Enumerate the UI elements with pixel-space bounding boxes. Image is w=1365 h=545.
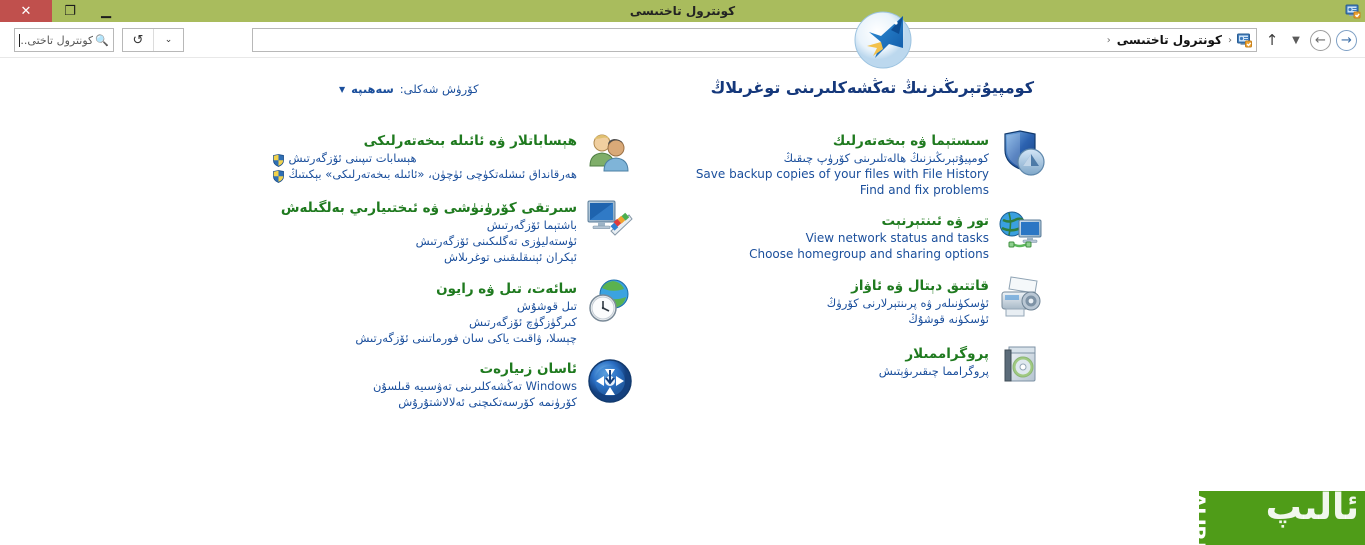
users-icon [585, 128, 635, 178]
control-panel-icon [1236, 32, 1253, 48]
control-panel-content: كومپيۇتېرىڭىزنىڭ تەڭشەكلىرىنى توغرىلاڭ ك… [0, 58, 1365, 487]
link-row-family-safety[interactable]: ھەرقانداق ئىشلەتكۈچى ئۈچۈن، «ئائىلە بىخە… [272, 166, 578, 182]
uac-shield-icon [272, 168, 285, 181]
chevron-down-icon: ▼ [339, 85, 345, 94]
category-title-appearance[interactable]: سىرتقى كۆرۈنۈشى ۋە ئىختىيارىي بەلگىلەش [281, 200, 577, 216]
link-change-desktop-background[interactable]: ئۈستەليۈزى تەگلىكىنى ئۆزگەرتىش [281, 233, 577, 249]
category-programs[interactable]: پروگراممىلار پروگرامما چىقىرىۋېتىش [879, 341, 1047, 391]
category-body: سىستېما ۋە بىخەتەرلىك كومپيۇتېرىڭىزنىڭ ھ… [696, 128, 989, 198]
link-add-a-device[interactable]: ئۈسكۈنە قوشۇڭ [827, 311, 989, 327]
category-title-ease-of-access[interactable]: ئاسان زىيارەت [480, 361, 577, 377]
page-title: كومپيۇتېرىڭىزنىڭ تەڭشەكلىرىنى توغرىلاڭ [711, 78, 1034, 97]
link-set-up-family-safety[interactable]: ھەرقانداق ئىشلەتكۈچى ئۈچۈن، «ئائىلە بىخە… [289, 166, 578, 182]
link-change-input-methods[interactable]: كىرگۈزگۈچ ئۆزگەرتىش [355, 314, 577, 330]
link-change-account-type[interactable]: ھېسابات تىپىنى ئۆزگەرتىش [289, 150, 417, 166]
printer-icon [997, 273, 1047, 323]
category-network-and-internet[interactable]: تور ۋە ئىنتېرنېت View network status and… [749, 208, 1047, 262]
uac-shield-icon [272, 152, 285, 165]
category-body: قاتتىق دېتال ۋە ئاۋاز ئۈسكۈنىلەر ۋە پرىن… [827, 273, 989, 327]
minimize-button[interactable]: ▁ [88, 0, 124, 22]
view-by-label: كۆرۈش شەكلى: [400, 82, 479, 96]
link-save-backup-copies[interactable]: Save backup copies of your files with Fi… [696, 166, 989, 182]
link-row-change-account-type[interactable]: ھېسابات تىپىنى ئۆزگەرتىش [272, 150, 578, 166]
back-button[interactable]: ← [1310, 30, 1331, 51]
view-by-value: سەھىپە [351, 82, 394, 96]
category-title-hardware-and-sound[interactable]: قاتتىق دېتال ۋە ئاۋاز [851, 278, 989, 294]
category-appearance-and-personalization[interactable]: سىرتقى كۆرۈنۈشى ۋە ئىختىيارىي بەلگىلەش ب… [281, 195, 635, 265]
category-clock-language-region[interactable]: سائەت، تىل ۋە رايون تىل قوشۇش كىرگۈزگۈچ … [355, 276, 635, 346]
search-input-value: كونترول تاختى... [19, 34, 93, 47]
refresh-group: ↺ ⌄ [122, 28, 184, 52]
category-body: پروگراممىلار پروگرامما چىقىرىۋېتىش [879, 341, 989, 379]
breadcrumb-separator[interactable]: ‹ [1227, 35, 1233, 46]
view-by-dropdown[interactable]: كۆرۈش شەكلى: سەھىپە ▼ [339, 82, 479, 96]
category-title-programs[interactable]: پروگراممىلار [905, 346, 989, 362]
watermark-subtext: ALIP.BIZ [1199, 493, 1209, 545]
programs-icon [997, 341, 1047, 391]
display-icon [585, 195, 635, 245]
network-icon [997, 208, 1047, 258]
chevron-down-icon[interactable]: ⌄ [154, 35, 183, 45]
address-bar[interactable]: ‹ كونترول تاختىسى ‹ [252, 28, 1257, 52]
refresh-icon[interactable]: ↺ [123, 33, 153, 48]
recent-locations-button[interactable]: ▼ [1289, 34, 1303, 48]
category-body: ئاسان زىيارەت Windows تەڭشەكلىرىنى تەۋسى… [373, 356, 577, 410]
watermark: ئالىپ ALIP.BIZ [1199, 491, 1365, 545]
link-add-a-language[interactable]: تىل قوشۇش [355, 298, 577, 314]
category-title-system-and-security[interactable]: سىستېما ۋە بىخەتەرلىك [833, 133, 989, 149]
category-body: سىرتقى كۆرۈنۈشى ۋە ئىختىيارىي بەلگىلەش ب… [281, 195, 577, 265]
category-ease-of-access[interactable]: ئاسان زىيارەت Windows تەڭشەكلىرىنى تەۋسى… [373, 356, 635, 410]
category-hardware-and-sound[interactable]: قاتتىق دېتال ۋە ئاۋاز ئۈسكۈنىلەر ۋە پرىن… [827, 273, 1047, 327]
link-change-date-time-number-formats[interactable]: چېسلا، ۋاقىت ياكى سان فورماتىنى ئۆزگەرتى… [355, 330, 577, 346]
shield-icon [997, 128, 1047, 178]
restore-button[interactable]: ❐ [52, 0, 88, 22]
breadcrumb-separator-end[interactable]: ‹ [1106, 35, 1112, 46]
breadcrumb-control-panel[interactable]: كونترول تاختىسى [1112, 33, 1227, 47]
up-button[interactable]: ↑ [1263, 31, 1281, 49]
control-panel-icon [1345, 3, 1361, 19]
window-title: كونترول تاختىسى [0, 0, 1365, 22]
category-system-and-security[interactable]: سىستېما ۋە بىخەتەرلىك كومپيۇتېرىڭىزنىڭ ھ… [696, 128, 1047, 198]
category-user-accounts-family-safety[interactable]: ھېساباتلار ۋە ئائىلە بىخەتەرلىكى ھېسابات… [272, 128, 636, 182]
category-title-user-accounts[interactable]: ھېساباتلار ۋە ئائىلە بىخەتەرلىكى [364, 133, 577, 149]
hummingbird-logo-icon [851, 8, 915, 70]
link-choose-homegroup[interactable]: Choose homegroup and sharing options [749, 246, 989, 262]
link-uninstall-a-program[interactable]: پروگرامما چىقىرىۋېتىش [879, 363, 989, 379]
link-optimize-visual-display[interactable]: كۆرۈنمە كۆرسەتكىچنى ئەلالاشتۇرۇش [373, 394, 577, 410]
clock-globe-icon [585, 276, 635, 326]
watermark-text: ئالىپ [1266, 491, 1359, 528]
search-icon: 🔍 [95, 34, 109, 47]
ease-of-access-icon [585, 356, 635, 406]
navigation-toolbar: 🔍 كونترول تاختى... ↺ ⌄ ‹ كونترول تاختىسى… [0, 22, 1365, 58]
category-body: ھېساباتلار ۋە ئائىلە بىخەتەرلىكى ھېسابات… [272, 128, 578, 182]
link-adjust-screen-resolution[interactable]: ئېكران ئېنىقلىقىنى توغرىلاش [281, 249, 577, 265]
link-view-network-status[interactable]: View network status and tasks [749, 230, 989, 246]
link-find-and-fix-problems[interactable]: Find and fix problems [696, 182, 989, 198]
close-button[interactable]: ✕ [0, 0, 52, 22]
link-view-computer-status[interactable]: كومپيۇتېرىڭىزنىڭ ھالەتلىرىنى كۆرۈپ چىقىڭ [696, 150, 989, 166]
category-title-clock-language-region[interactable]: سائەت، تىل ۋە رايون [436, 281, 577, 297]
search-input[interactable]: 🔍 كونترول تاختى... [14, 28, 114, 52]
link-view-devices-and-printers[interactable]: ئۈسكۈنىلەر ۋە پرىنتېرلارنى كۆرۈڭ [827, 295, 989, 311]
category-body: تور ۋە ئىنتېرنېت View network status and… [749, 208, 989, 262]
link-change-the-theme[interactable]: باشتېما ئۆزگەرتىش [281, 217, 577, 233]
forward-button[interactable]: → [1336, 30, 1357, 51]
window-title-bar: ✕ ❐ ▁ كونترول تاختىسى [0, 0, 1365, 22]
category-title-network-and-internet[interactable]: تور ۋە ئىنتېرنېت [882, 213, 989, 229]
link-let-windows-suggest-settings[interactable]: Windows تەڭشەكلىرىنى تەۋسىيە قىلسۇن [373, 378, 577, 394]
category-body: سائەت، تىل ۋە رايون تىل قوشۇش كىرگۈزگۈچ … [355, 276, 577, 346]
